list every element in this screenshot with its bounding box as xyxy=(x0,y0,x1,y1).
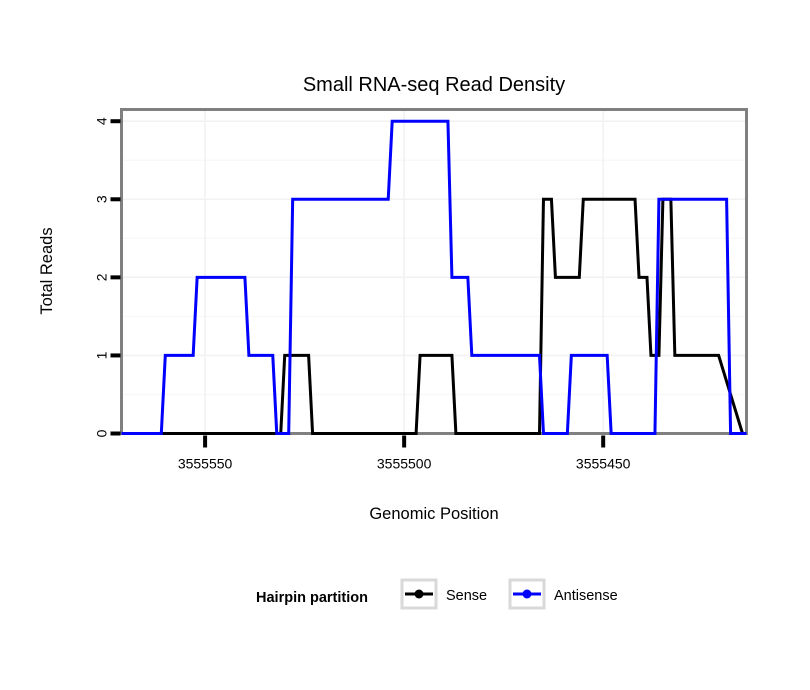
panel-background xyxy=(122,110,747,434)
x-tick-label: 3555500 xyxy=(377,456,432,472)
legend-entry-label: Antisense xyxy=(554,588,618,604)
y-tick-label: 3 xyxy=(94,195,110,203)
x-tick-label: 3555450 xyxy=(576,456,631,472)
y-tick-label: 4 xyxy=(94,117,110,125)
legend-key-point xyxy=(415,590,424,599)
chart-figure: Small RNA-seq Read Density 01234 Total R… xyxy=(0,0,810,690)
y-tick-label: 2 xyxy=(94,273,110,281)
legend-title: Hairpin partition xyxy=(256,590,368,606)
x-tick-label: 3555550 xyxy=(178,456,233,472)
legend-key-point xyxy=(523,590,532,599)
chart-title: Small RNA-seq Read Density xyxy=(303,74,565,96)
y-tick-label: 0 xyxy=(94,429,110,437)
plot-panel xyxy=(122,110,747,434)
y-axis-title: Total Reads xyxy=(38,227,56,314)
y-tick-label: 1 xyxy=(94,351,110,359)
legend-entry-label: Sense xyxy=(446,588,487,604)
x-axis-title: Genomic Position xyxy=(369,505,498,523)
